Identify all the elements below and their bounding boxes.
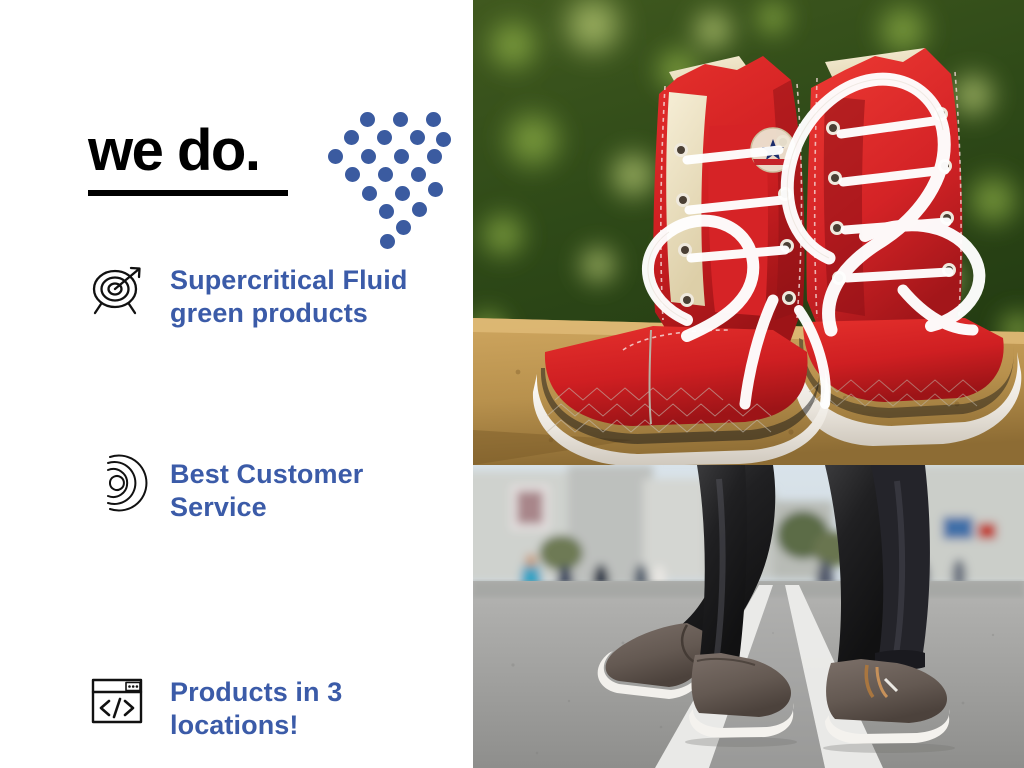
street-shoes-photo [473,465,1024,768]
code-window-icon [86,670,148,732]
brand-lockup: we do. [88,110,458,240]
wordmark-underline [88,190,288,196]
slide-canvas: we do. [0,0,1024,768]
logo-dot [328,149,343,164]
logo-dot [344,130,359,145]
logo-dot [395,186,410,201]
feature-label: Supercritical Fluid green products [170,258,466,330]
feature-item-products-in-3-locations: Products in 3 locations! [86,670,466,742]
logo-dot [380,234,395,249]
logo-dot [394,149,409,164]
red-sneakers-photo [473,0,1024,465]
photo-column [473,0,1024,768]
logo-dot [410,130,425,145]
feature-item-supercritical-fluid: Supercritical Fluid green products [86,258,466,330]
logo-dot [362,186,377,201]
logo-dot [411,167,426,182]
logo-dot [396,220,411,235]
target-arrow-icon [86,258,148,320]
dot-chevron-logo [326,110,451,235]
logo-dot [377,130,392,145]
left-content-panel: we do. [0,0,473,768]
feature-label: Products in 3 locations! [170,670,466,742]
wordmark-we-do: we do. [88,122,259,180]
logo-dot [426,112,441,127]
logo-dot [378,167,393,182]
logo-dot [345,167,360,182]
logo-dot [428,182,443,197]
feature-label: Best Customer Service [170,452,466,524]
logo-dot [436,132,451,147]
sound-wave-ear-icon [86,452,148,514]
logo-dot [360,112,375,127]
logo-dot [379,204,394,219]
logo-dot [427,149,442,164]
logo-dot [412,202,427,217]
logo-dot [361,149,376,164]
feature-item-best-customer-service: Best Customer Service [86,452,466,524]
logo-dot [393,112,408,127]
